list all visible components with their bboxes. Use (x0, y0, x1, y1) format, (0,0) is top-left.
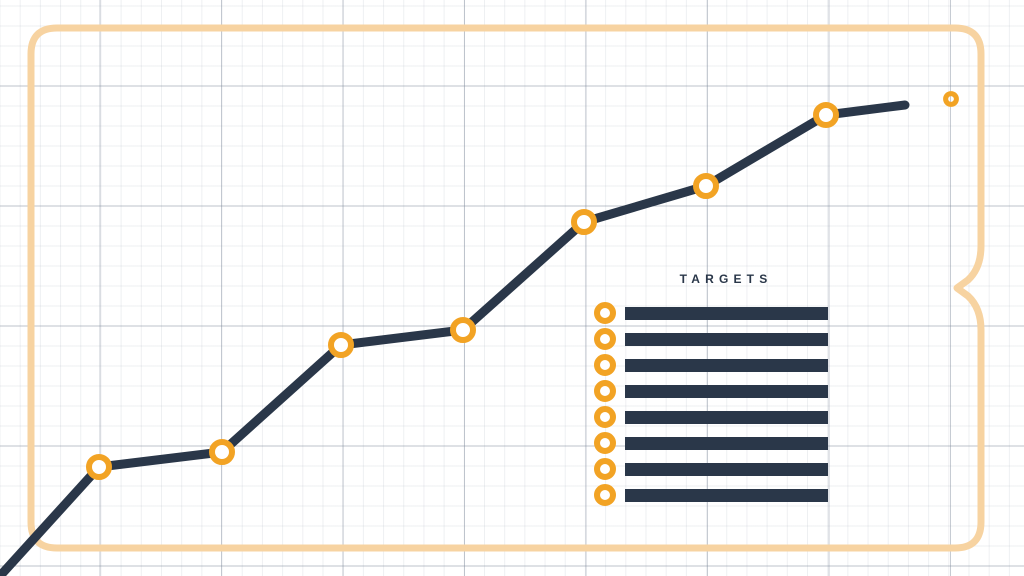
data-point-marker[interactable] (574, 212, 594, 232)
data-point-marker[interactable] (331, 335, 351, 355)
screenshot-canvas: TARGETS (0, 0, 1024, 576)
target-placeholder-bar (625, 463, 828, 476)
targets-list (594, 300, 828, 508)
data-point-marker[interactable] (696, 176, 716, 196)
target-bullet-ring-icon (594, 380, 616, 402)
target-row[interactable] (594, 404, 828, 430)
target-row[interactable] (594, 326, 828, 352)
target-row[interactable] (594, 300, 828, 326)
stray-data-point-marker (946, 94, 957, 105)
targets-panel: TARGETS (594, 272, 828, 508)
target-bullet-ring-icon (594, 484, 616, 506)
target-placeholder-bar (625, 307, 828, 320)
target-row[interactable] (594, 352, 828, 378)
target-placeholder-bar (625, 333, 828, 346)
target-placeholder-bar (625, 359, 828, 372)
target-row[interactable] (594, 456, 828, 482)
targets-title: TARGETS (624, 272, 828, 286)
data-point-marker[interactable] (453, 320, 473, 340)
data-point-marker[interactable] (89, 457, 109, 477)
chart-artwork (0, 0, 1024, 576)
target-bullet-ring-icon (594, 354, 616, 376)
target-bullet-ring-icon (594, 406, 616, 428)
target-placeholder-bar (625, 411, 828, 424)
target-row[interactable] (594, 430, 828, 456)
target-bullet-ring-icon (594, 328, 616, 350)
target-row[interactable] (594, 482, 828, 508)
data-point-marker[interactable] (212, 442, 232, 462)
target-bullet-ring-icon (594, 302, 616, 324)
target-bullet-ring-icon (594, 432, 616, 454)
target-placeholder-bar (625, 385, 828, 398)
target-placeholder-bar (625, 437, 828, 450)
target-placeholder-bar (625, 489, 828, 502)
target-row[interactable] (594, 378, 828, 404)
target-bullet-ring-icon (594, 458, 616, 480)
data-point-marker[interactable] (816, 105, 836, 125)
